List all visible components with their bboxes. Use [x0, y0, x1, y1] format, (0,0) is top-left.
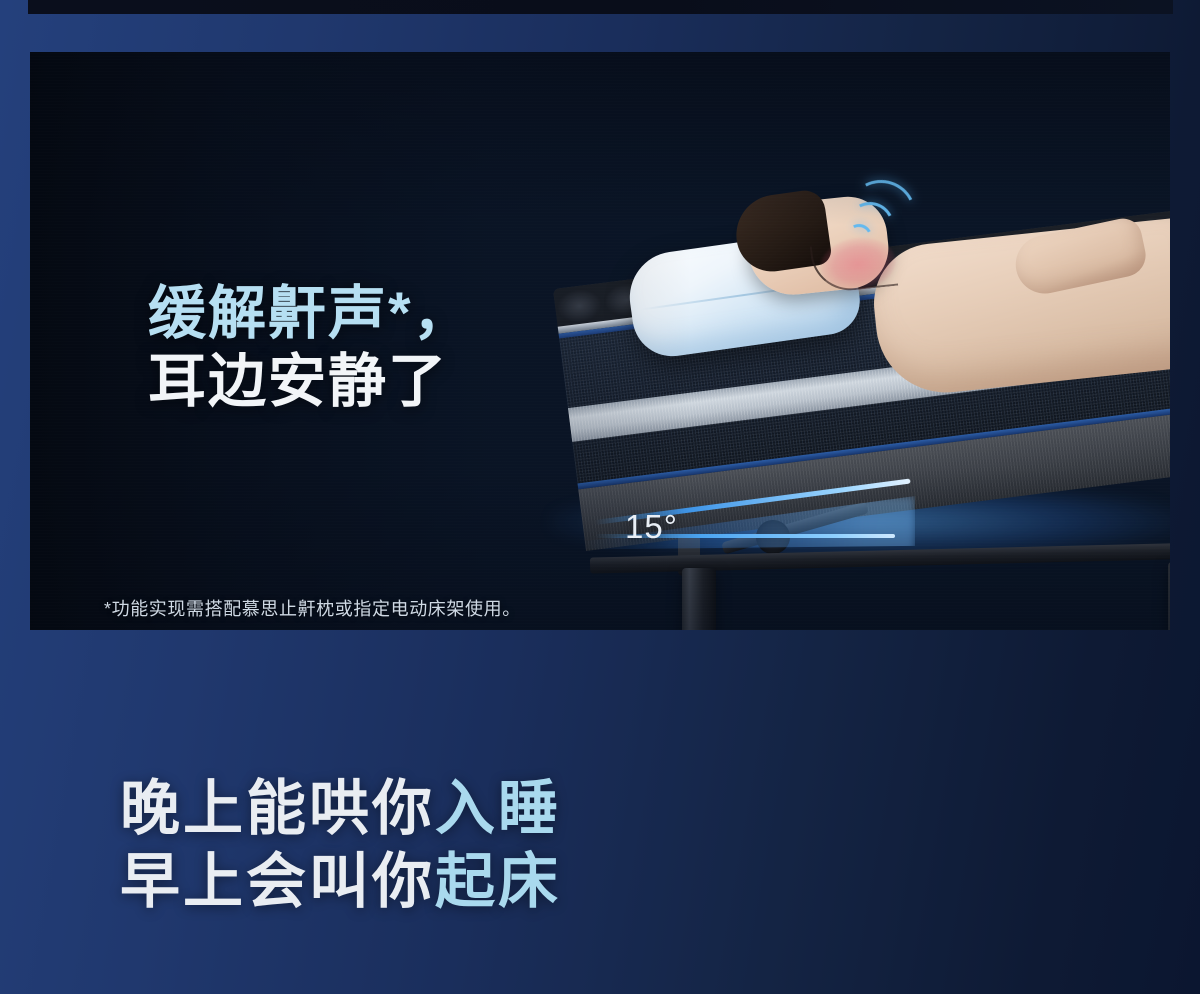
tilt-angle-indicator: 15°: [595, 490, 925, 570]
bottom-headline: 晚上能哄你入睡 早上会叫你起床: [120, 772, 561, 918]
bottom-headline-line1-blue: 入睡: [435, 775, 561, 842]
bottom-headline-line1: 晚上能哄你入睡: [120, 772, 561, 845]
hero-image-panel: 15° 缓解鼾声*， 耳边安静了 *功能实现需搭配慕思止鼾枕或指定电动床架使用。: [30, 52, 1170, 630]
angle-value-label: 15°: [625, 508, 678, 546]
hero-headline-line2: 耳边安静了: [148, 348, 473, 416]
snore-sound-waves-icon: [842, 178, 922, 254]
bottom-headline-line2: 早上会叫你起床: [120, 845, 561, 918]
hero-headline: 缓解鼾声*， 耳边安静了: [148, 280, 473, 417]
hero-headline-line1: 缓解鼾声*，: [148, 280, 473, 348]
bottom-headline-line2-white: 早上会叫你: [120, 848, 435, 915]
top-divider-strip: [28, 0, 1173, 14]
bed-frame-leg-left: [682, 568, 716, 630]
bottom-headline-line2-blue: 起床: [435, 848, 561, 915]
bed-frame-leg-right: [1168, 562, 1170, 630]
hero-footnote: *功能实现需搭配慕思止鼾枕或指定电动床架使用。: [104, 595, 521, 621]
bottom-headline-line1-white: 晚上能哄你: [120, 775, 435, 842]
